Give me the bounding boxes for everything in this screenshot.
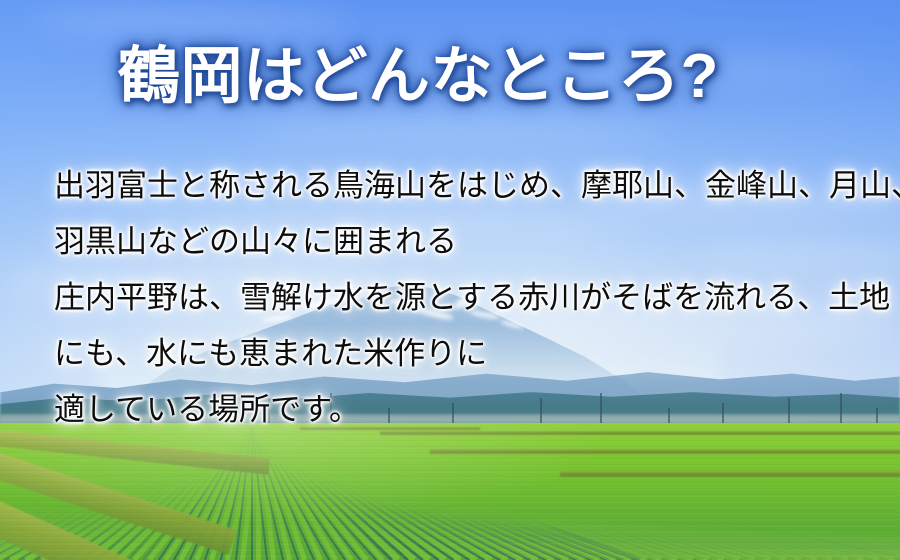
page-title: 鶴岡はどんなところ? bbox=[118, 44, 719, 109]
body-line: にも、水にも恵まれた米作りに bbox=[54, 326, 874, 382]
tsuruoka-intro-banner: 鶴岡はどんなところ? 出羽富士と称される鳥海山をはじめ、摩耶山、金峰山、月山、 … bbox=[0, 0, 900, 560]
field-highlight bbox=[0, 423, 900, 560]
body-line: 適している場所です。 bbox=[54, 382, 874, 438]
body-line: 出羽富士と称される鳥海山をはじめ、摩耶山、金峰山、月山、 bbox=[54, 158, 874, 214]
utility-pole bbox=[876, 408, 878, 424]
body-text-block: 出羽富士と称される鳥海山をはじめ、摩耶山、金峰山、月山、 羽黒山などの山々に囲ま… bbox=[54, 158, 874, 438]
body-line: 羽黒山などの山々に囲まれる bbox=[54, 214, 874, 270]
body-line: 庄内平野は、雪解け水を源とする赤川がそばを流れる、土地 bbox=[54, 270, 874, 326]
rice-paddy-field bbox=[0, 423, 900, 560]
